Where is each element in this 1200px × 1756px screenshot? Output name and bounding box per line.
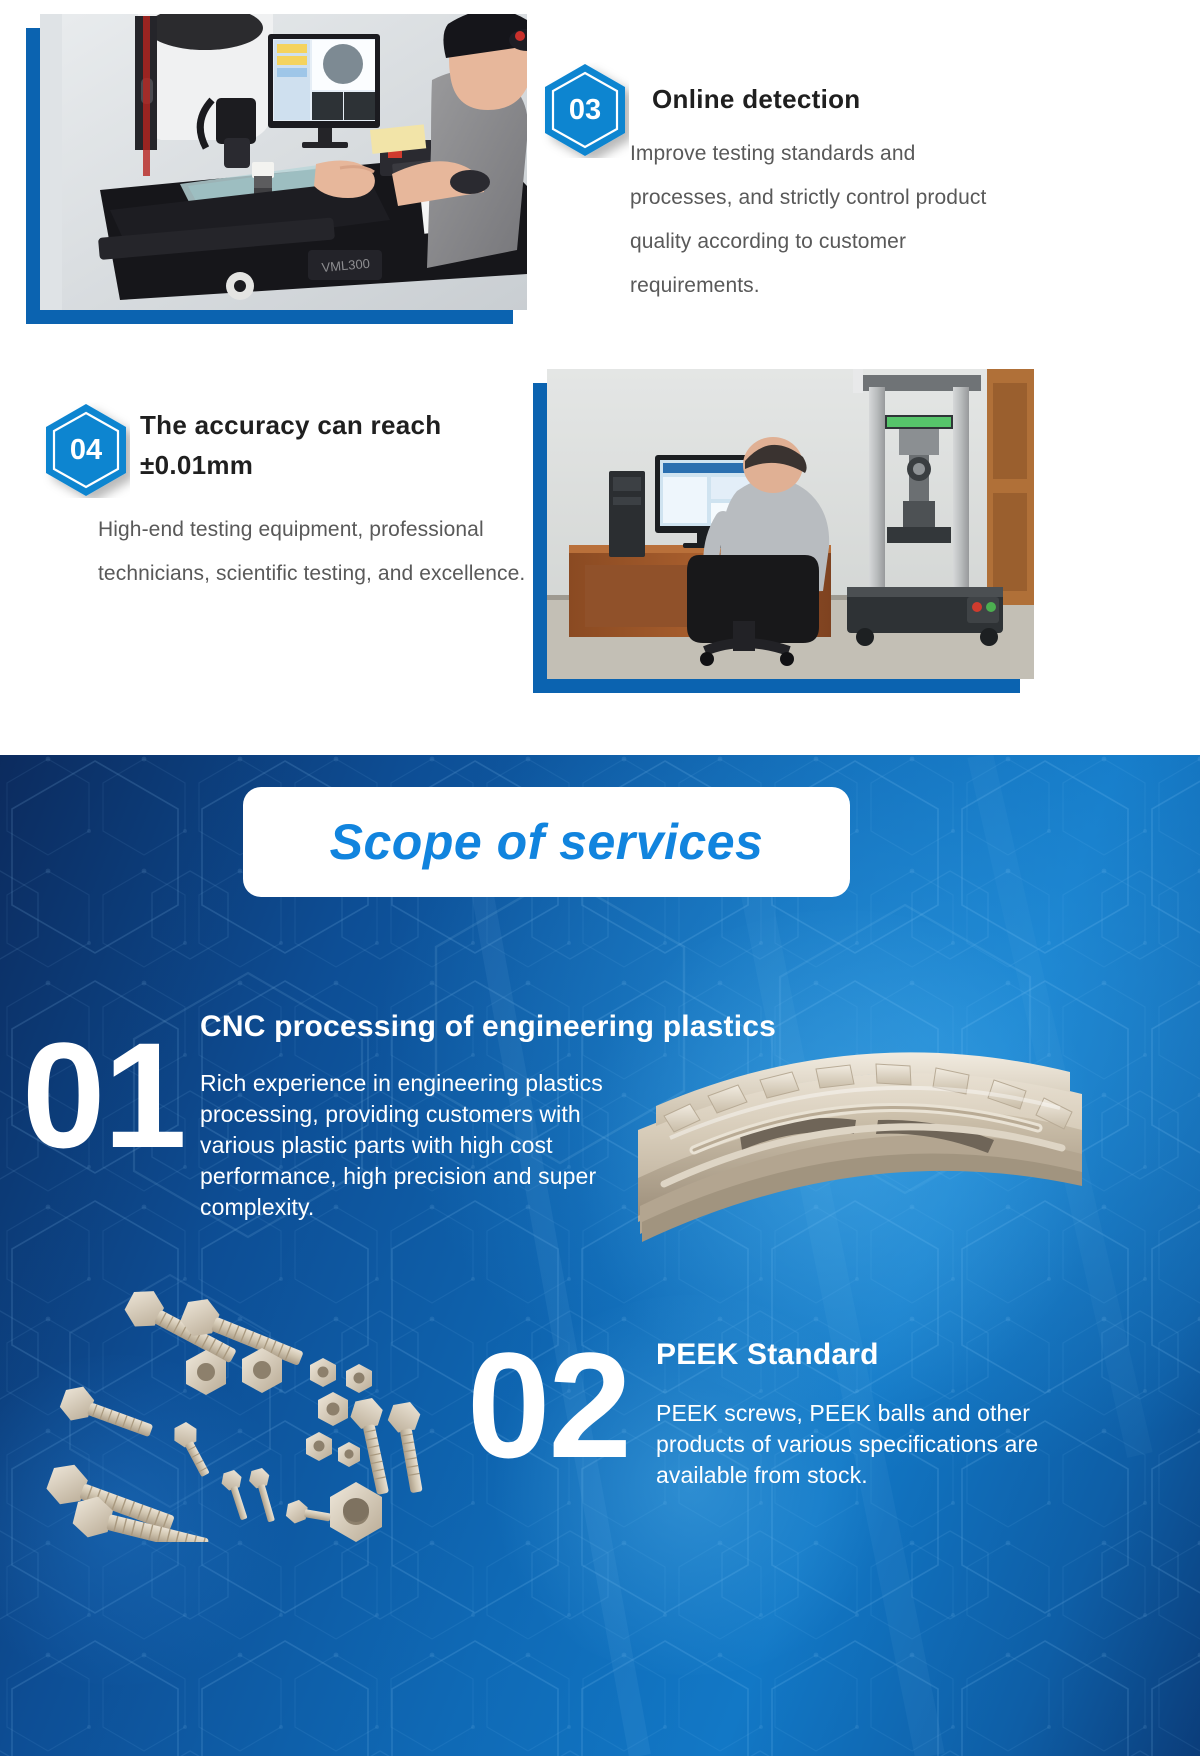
feature-title-03: Online detection — [652, 79, 1072, 119]
photo-image — [547, 369, 1034, 679]
feature-badge-number: 03 — [541, 62, 629, 158]
feature-title-04: The accuracy can reach ±0.01mm — [140, 405, 520, 485]
scope-banner: Scope of services — [243, 787, 850, 897]
scope-banner-title: Scope of services — [330, 813, 764, 871]
feature-body-03: Improve testing standards and processes,… — [630, 132, 1020, 308]
scope-body-01: Rich experience in engineering plastics … — [200, 1068, 632, 1223]
peek-screws-nuts-photo — [38, 1272, 488, 1542]
photo-image: VML300 — [40, 14, 527, 310]
scope-number-02: 02 — [467, 1330, 630, 1480]
scope-title-01: CNC processing of engineering plastics — [200, 1010, 960, 1044]
peek-chain-part-photo — [630, 1038, 1090, 1288]
scope-number-01: 01 — [22, 1020, 185, 1170]
feature-badge-number: 04 — [42, 402, 130, 498]
scope-title-02: PEEK Standard — [656, 1338, 1076, 1372]
features-section: VML300 — [0, 0, 1200, 755]
feature-body-04: High-end testing equipment, professional… — [98, 508, 528, 596]
optical-measuring-machine-photo: VML300 — [40, 14, 527, 310]
feature-badge-04: 04 — [42, 402, 130, 498]
scope-body-02: PEEK screws, PEEK balls and other produc… — [656, 1398, 1061, 1491]
feature-badge-03: 03 — [541, 62, 629, 158]
tensile-testing-lab-photo — [547, 369, 1034, 679]
